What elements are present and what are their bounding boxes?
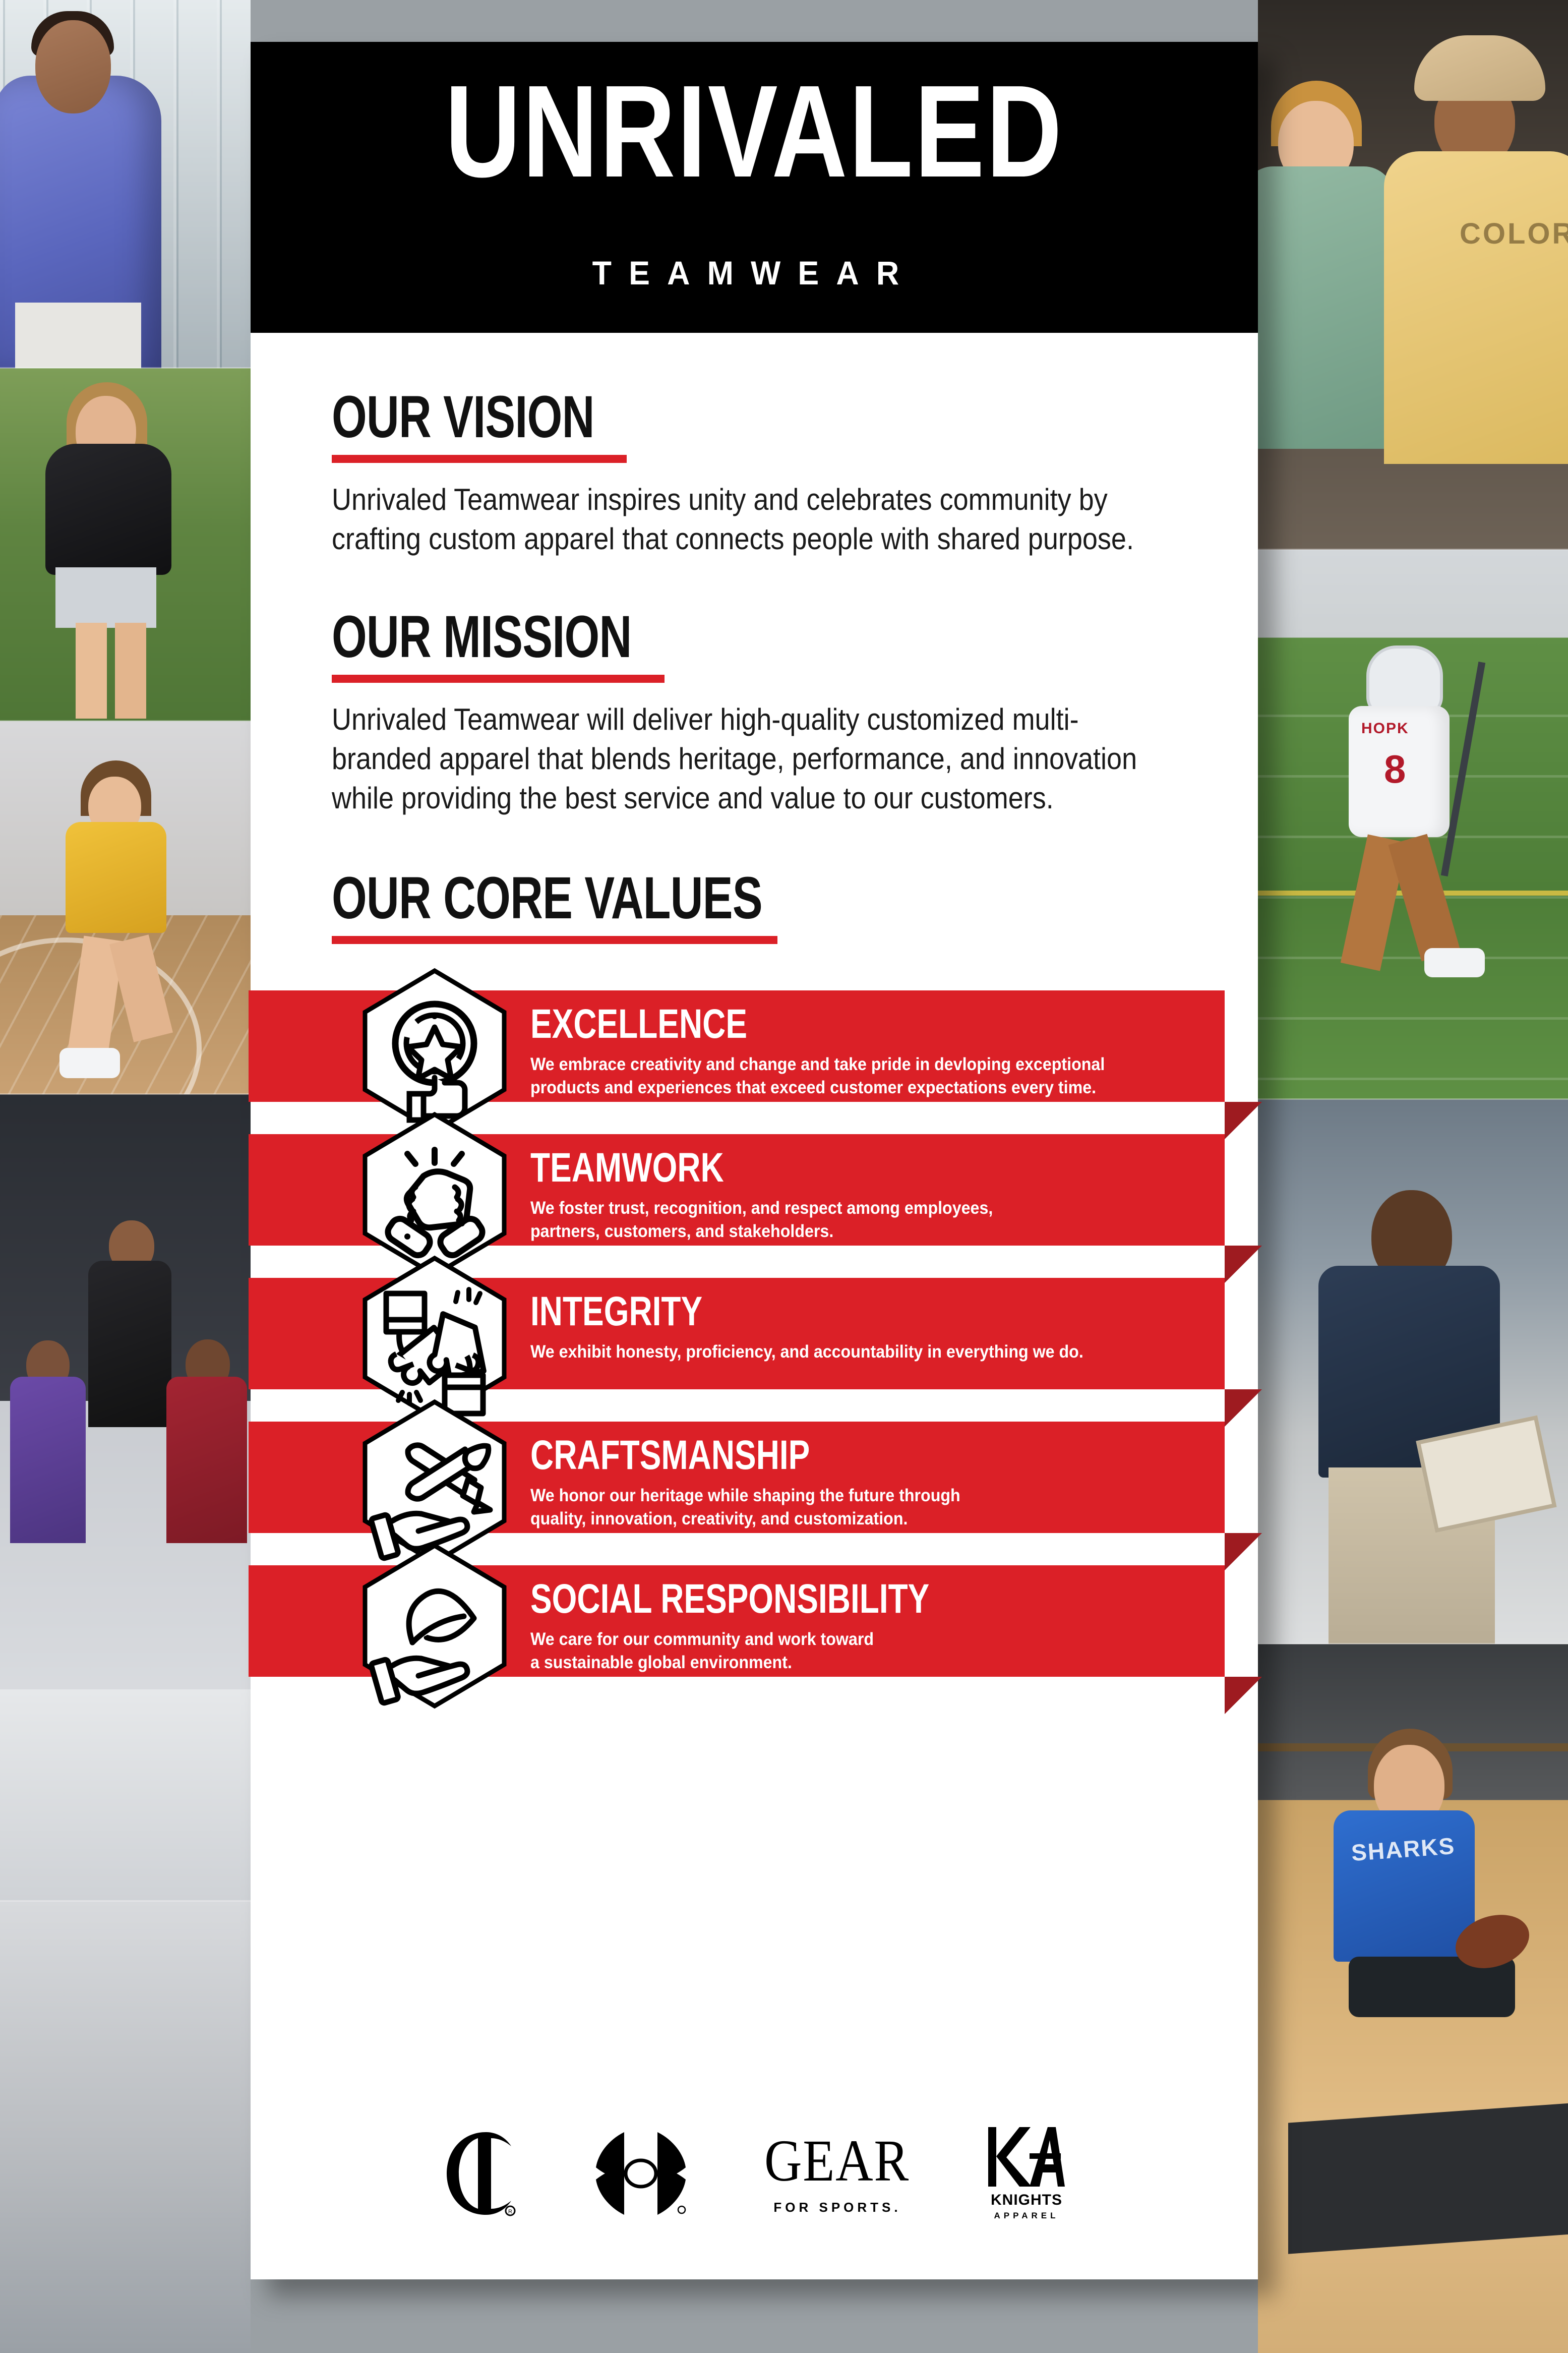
value-banner-fold bbox=[1225, 1389, 1262, 1427]
value-banner-fold bbox=[1225, 1533, 1262, 1570]
gear-for-sports-logo: GEAR FOR SPORTS. bbox=[764, 2132, 911, 2215]
value-description: We foster trust, recognition, and respec… bbox=[530, 1197, 1148, 1243]
under-armour-logo bbox=[593, 2129, 689, 2218]
value-banner-fold bbox=[1225, 1246, 1262, 1283]
photo-two-men-hoodies-colorado: COLORAD bbox=[1258, 0, 1568, 550]
photo-gray-studio-floor bbox=[0, 1901, 251, 2353]
section-our-vision: OUR VISION Unrivaled Teamwear inspires u… bbox=[251, 333, 1258, 559]
value-title: SOCIAL RESPONSIBILITY bbox=[530, 1578, 1053, 1620]
hand-leaf-icon bbox=[359, 1543, 510, 1709]
value-description: We exhibit honesty, proficiency, and acc… bbox=[530, 1340, 1148, 1364]
value-description: We embrace creativity and change and tak… bbox=[530, 1053, 1148, 1099]
section-our-core-values: OUR CORE VALUES bbox=[251, 818, 1258, 944]
value-title: INTEGRITY bbox=[530, 1291, 1053, 1332]
photo-three-athletes-jerseys bbox=[0, 1094, 251, 1901]
core-values-heading: OUR CORE VALUES bbox=[332, 868, 1036, 928]
mission-body: Unrivaled Teamwear will deliver high-qua… bbox=[332, 700, 1165, 818]
photo-coach-clipboard bbox=[1258, 1099, 1568, 1644]
poster-header: UNRIVALED TEAMWEAR bbox=[251, 42, 1258, 333]
value-title: CRAFTSMANSHIP bbox=[530, 1435, 1053, 1476]
photo-woman-black-hoodie-field bbox=[0, 368, 251, 721]
value-description: We honor our heritage while shaping the … bbox=[530, 1484, 1148, 1530]
value-text: SOCIAL RESPONSIBILITY We care for our co… bbox=[530, 1578, 1201, 1674]
section-our-mission: OUR MISSION Unrivaled Teamwear will deli… bbox=[251, 559, 1258, 818]
value-text: TEAMWORK We foster trust, recognition, a… bbox=[530, 1147, 1201, 1243]
value-title: TEAMWORK bbox=[530, 1147, 1053, 1189]
photo-lacrosse-player-hopkins: HOPK8 bbox=[1258, 550, 1568, 1099]
poster-body: OUR VISION Unrivaled Teamwear inspires u… bbox=[251, 333, 1258, 1709]
mission-heading: OUR MISSION bbox=[332, 607, 1036, 667]
core-values-rule bbox=[332, 936, 777, 944]
medal-star-thumbsup-icon bbox=[359, 968, 510, 1134]
value-banner-fold bbox=[1225, 1102, 1262, 1139]
value-row-social-responsibility: SOCIAL RESPONSIBILITY We care for our co… bbox=[251, 1565, 1258, 1709]
photo-woman-football-mat-sharks: SHARKS bbox=[1258, 1644, 1568, 2353]
value-text: EXCELLENCE We embrace creativity and cha… bbox=[530, 1004, 1201, 1099]
vision-heading: OUR VISION bbox=[332, 387, 1036, 447]
value-text: CRAFTSMANSHIP We honor our heritage whil… bbox=[530, 1435, 1201, 1530]
partner-brand-logos: R GEAR FOR SPORTS. bbox=[251, 2068, 1258, 2279]
vision-body: Unrivaled Teamwear inspires unity and ce… bbox=[332, 480, 1165, 559]
poster-card: UNRIVALED TEAMWEAR OUR VISION Unrivaled … bbox=[251, 42, 1258, 2279]
value-description: We care for our community and work towar… bbox=[530, 1628, 1148, 1674]
photo-basketball-player-gym bbox=[0, 721, 251, 1094]
clasped-hands-icon bbox=[359, 1111, 510, 1278]
brand-sub-wordmark: TEAMWEAR bbox=[276, 254, 1233, 292]
core-values-list: EXCELLENCE We embrace creativity and cha… bbox=[251, 990, 1258, 1709]
photo-man-blue-crewneck bbox=[0, 0, 251, 368]
value-text: INTEGRITY We exhibit honesty, proficienc… bbox=[530, 1291, 1201, 1364]
svg-text:GEAR: GEAR bbox=[764, 2132, 910, 2193]
vision-rule bbox=[332, 455, 627, 463]
value-banner-fold bbox=[1225, 1677, 1262, 1714]
mission-rule bbox=[332, 675, 665, 683]
hands-puzzle-pieces-icon bbox=[359, 1255, 510, 1422]
brand-wordmark: UNRIVALED bbox=[351, 78, 1157, 186]
champion-logo: R bbox=[442, 2129, 517, 2218]
knights-apparel-logo: KNIGHTS APPAREL bbox=[986, 2126, 1067, 2221]
value-title: EXCELLENCE bbox=[530, 1004, 1053, 1045]
hand-pencil-brush-icon bbox=[359, 1399, 510, 1565]
svg-text:R: R bbox=[508, 2209, 512, 2215]
